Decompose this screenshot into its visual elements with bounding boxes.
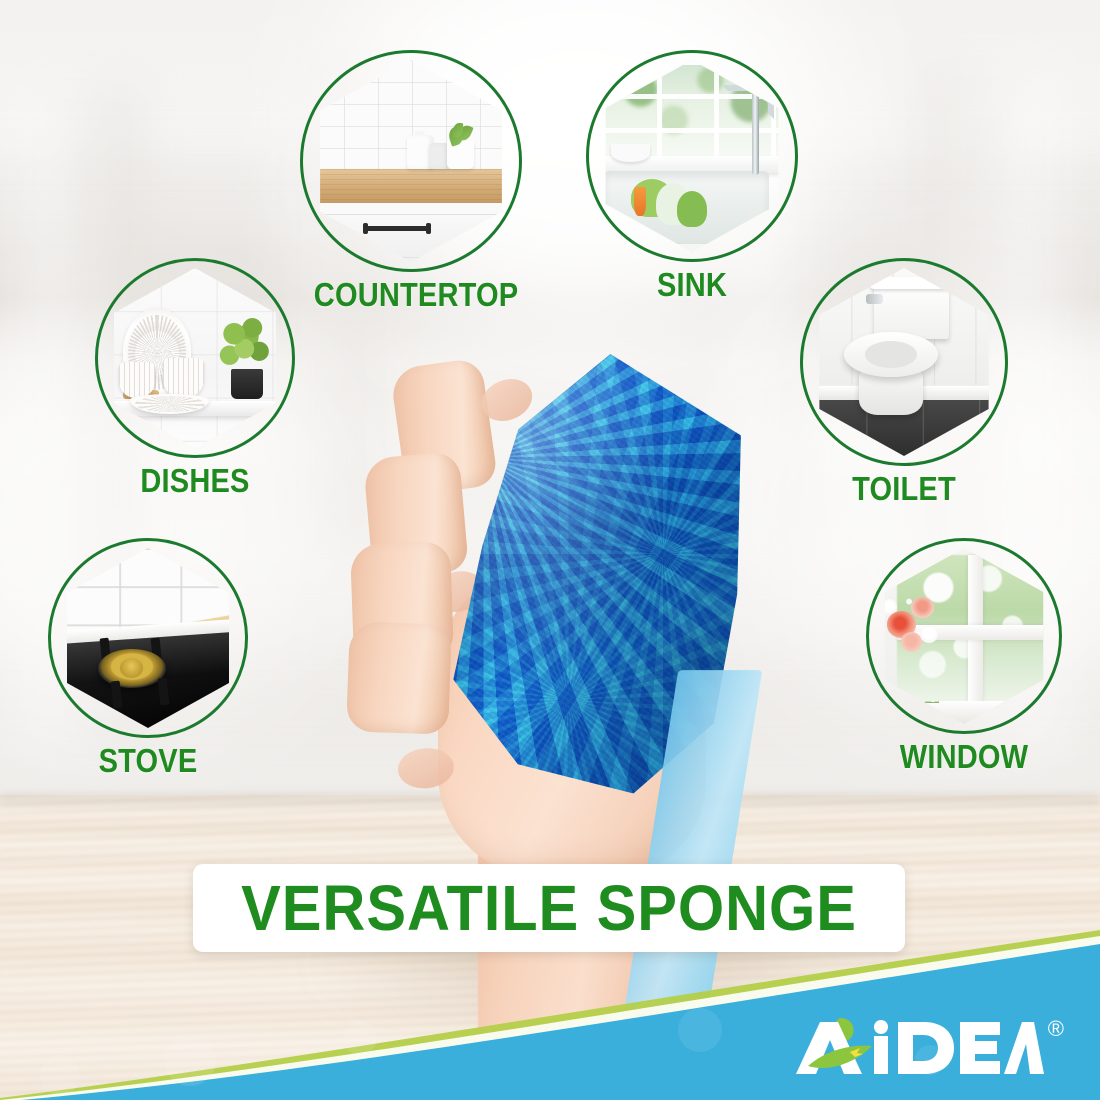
letter-i-dot xyxy=(874,1020,888,1034)
dishes-hex-clip xyxy=(105,268,285,448)
brand-logo: ® xyxy=(794,1016,1064,1078)
feature-stove[interactable]: STOVE xyxy=(48,538,248,777)
flush-lever-icon xyxy=(866,294,883,303)
feature-label-toilet: TOILET xyxy=(812,472,995,505)
window-hex-clip xyxy=(876,548,1052,724)
registered-trademark-symbol: ® xyxy=(1048,1018,1064,1040)
feature-label-stove: STOVE xyxy=(60,744,236,777)
feature-dishes[interactable]: DISHES xyxy=(95,258,295,497)
letter-a2 xyxy=(1004,1022,1044,1074)
countertop-scene xyxy=(310,60,512,262)
gas-burner-icon xyxy=(98,649,166,689)
stove-circle[interactable] xyxy=(48,538,248,738)
window-circle[interactable] xyxy=(866,538,1062,734)
bubble-decoration xyxy=(40,1055,80,1095)
aidea-wordmark xyxy=(794,1016,1044,1078)
stove-scene xyxy=(58,548,238,728)
bubble-decoration xyxy=(164,1034,216,1086)
feature-toilet[interactable]: TOILET xyxy=(800,258,1008,505)
feature-label-countertop: COUNTERTOP xyxy=(314,278,516,311)
window-scene xyxy=(876,548,1052,724)
dishes-circle[interactable] xyxy=(95,258,295,458)
letter-i xyxy=(874,1036,888,1074)
toilet-scene xyxy=(810,268,998,456)
bubble-decoration xyxy=(678,1008,722,1052)
letter-d xyxy=(898,1022,954,1074)
feature-window[interactable]: WINDOW xyxy=(866,538,1062,773)
infographic-canvas: COUNTERTOP SINK xyxy=(0,0,1100,1100)
toilet-circle[interactable] xyxy=(800,258,1008,466)
stove-hex-clip xyxy=(58,548,238,728)
feature-label-window: WINDOW xyxy=(878,740,1050,773)
feature-countertop[interactable]: COUNTERTOP xyxy=(300,50,530,311)
sink-circle[interactable] xyxy=(586,50,798,262)
sink-hex-clip xyxy=(596,60,788,252)
countertop-hex-clip xyxy=(310,60,512,262)
faucet-icon xyxy=(752,91,759,175)
letter-e xyxy=(960,1022,1000,1074)
sink-scene xyxy=(596,60,788,252)
drawer-pull-icon xyxy=(363,226,432,231)
finger xyxy=(346,621,452,734)
countertop-circle[interactable] xyxy=(300,50,522,272)
bubble-decoration xyxy=(343,1021,377,1055)
dishes-scene xyxy=(105,268,285,448)
feature-label-dishes: DISHES xyxy=(107,464,283,497)
feature-label-sink: SINK xyxy=(599,268,786,301)
toilet-hex-clip xyxy=(810,268,998,456)
feature-sink[interactable]: SINK xyxy=(586,50,798,301)
